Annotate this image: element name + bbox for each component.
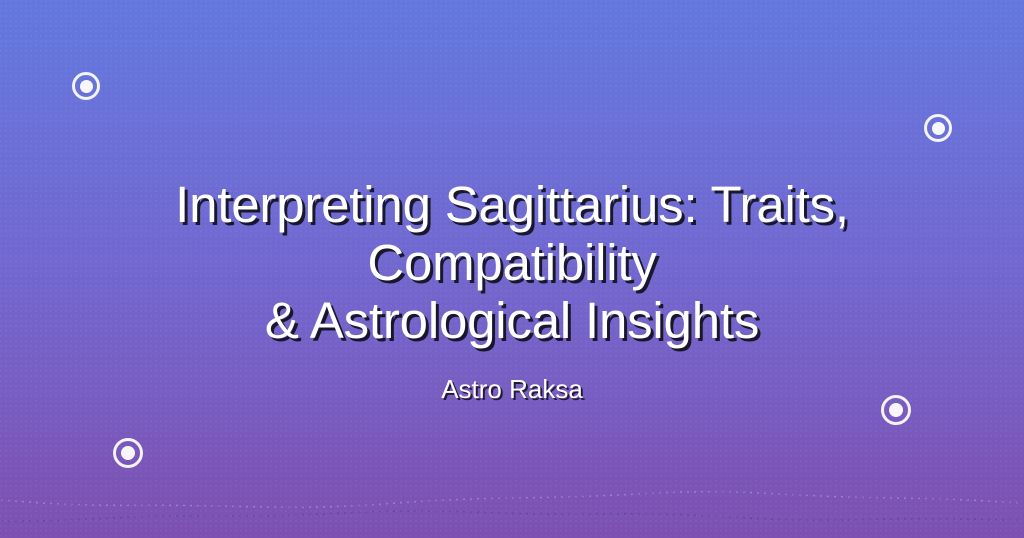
slide-content: Interpreting Sagittarius: Traits, Compat… [0, 0, 1024, 538]
presentation-slide: Interpreting Sagittarius: Traits, Compat… [0, 0, 1024, 538]
slide-title: Interpreting Sagittarius: Traits, Compat… [32, 176, 992, 350]
slide-subtitle: Astro Raksa [441, 373, 583, 405]
